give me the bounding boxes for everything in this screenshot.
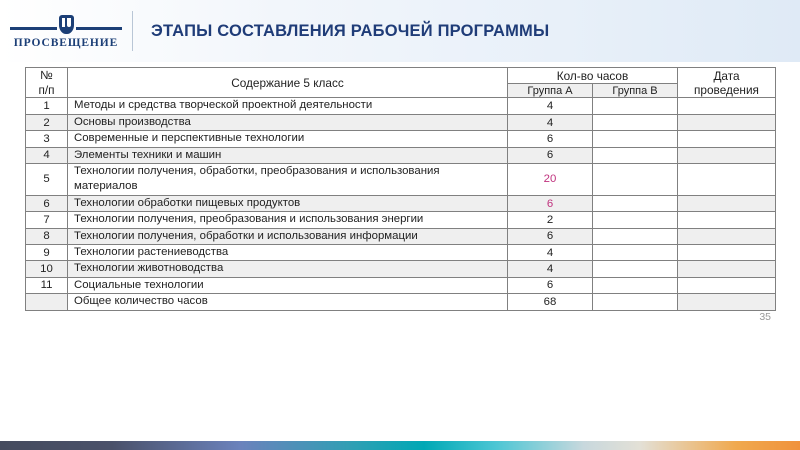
cell-group-b (593, 98, 678, 114)
total-cell-date (678, 294, 776, 310)
cell-group-b (593, 164, 678, 196)
table-head: № п/п Содержание 5 класс Кол-во часов Да… (26, 68, 776, 98)
table-row: 11Социальные технологии6 (26, 277, 776, 293)
cell-content: Методы и средства творческой проектной д… (68, 98, 508, 114)
column-header-number-line2: п/п (38, 83, 54, 97)
cell-date (678, 131, 776, 147)
cell-date (678, 228, 776, 244)
column-header-content: Содержание 5 класс (68, 68, 508, 98)
cell-group-a: 6 (508, 228, 593, 244)
slide-number: 35 (25, 311, 775, 323)
cell-group-b (593, 244, 678, 260)
shield-emblem-icon (59, 15, 74, 34)
table-row: 2Основы производства4 (26, 114, 776, 130)
cell-group-a: 20 (508, 164, 593, 196)
cell-group-a: 6 (508, 147, 593, 163)
column-header-number: № п/п (26, 68, 68, 98)
table-row: 10Технологии животноводства4 (26, 261, 776, 277)
column-header-date-line1: Дата (713, 69, 739, 83)
cell-group-a-value: 6 (547, 198, 553, 210)
logo-emblem-row (10, 13, 122, 35)
cell-content: Технологии получения, преобразования и и… (68, 212, 508, 228)
cell-group-a: 2 (508, 212, 593, 228)
logo-rule-right (76, 27, 123, 30)
table-header-row-1: № п/п Содержание 5 класс Кол-во часов Да… (26, 68, 776, 84)
cell-number: 5 (26, 164, 68, 196)
brand-logo: ПРОСВЕЩЕНИЕ (0, 0, 132, 62)
slide-header: ПРОСВЕЩЕНИЕ ЭТАПЫ СОСТАВЛЕНИЯ РАБОЧЕЙ ПР… (0, 0, 800, 62)
column-header-number-line1: № (40, 68, 53, 82)
cell-content: Технологии животноводства (68, 261, 508, 277)
cell-group-a: 4 (508, 244, 593, 260)
total-cell-group-a: 68 (508, 294, 593, 310)
cell-date (678, 261, 776, 277)
cell-group-b (593, 114, 678, 130)
table-row: 1Методы и средства творческой проектной … (26, 98, 776, 114)
total-cell-number (26, 294, 68, 310)
total-cell-label: Общее количество часов (68, 294, 508, 310)
footer-accent-bar (0, 441, 800, 450)
cell-date (678, 212, 776, 228)
cell-date (678, 195, 776, 211)
cell-content: Основы производства (68, 114, 508, 130)
cell-group-a-value: 20 (544, 173, 557, 185)
schedule-table: № п/п Содержание 5 класс Кол-во часов Да… (25, 67, 776, 311)
cell-date (678, 164, 776, 196)
column-header-group-b: Группа В (593, 84, 678, 98)
cell-group-b (593, 147, 678, 163)
cell-date (678, 277, 776, 293)
cell-number: 1 (26, 98, 68, 114)
cell-number: 3 (26, 131, 68, 147)
column-header-date-line2: проведения (694, 83, 759, 97)
cell-group-a: 4 (508, 98, 593, 114)
table-row: 9Технологии растениеводства4 (26, 244, 776, 260)
cell-group-b (593, 212, 678, 228)
logo-rule-left (10, 27, 57, 30)
cell-number: 10 (26, 261, 68, 277)
logo-wordmark: ПРОСВЕЩЕНИЕ (14, 37, 118, 49)
table-row: 7Технологии получения, преобразования и … (26, 212, 776, 228)
cell-group-b (593, 261, 678, 277)
cell-number: 9 (26, 244, 68, 260)
cell-number: 4 (26, 147, 68, 163)
header-divider (132, 11, 133, 51)
table-row: 5Технологии получения, обработки, преобр… (26, 164, 776, 196)
cell-content: Социальные технологии (68, 277, 508, 293)
cell-date (678, 114, 776, 130)
cell-date (678, 244, 776, 260)
schedule-table-container: № п/п Содержание 5 класс Кол-во часов Да… (25, 67, 775, 323)
cell-group-a: 4 (508, 261, 593, 277)
cell-content: Технологии обработки пищевых продуктов (68, 195, 508, 211)
cell-group-a: 4 (508, 114, 593, 130)
cell-number: 7 (26, 212, 68, 228)
cell-content: Технологии получения, обработки и исполь… (68, 228, 508, 244)
table-body: 1Методы и средства творческой проектной … (26, 98, 776, 310)
table-row: 6Технологии обработки пищевых продуктов6 (26, 195, 776, 211)
cell-date (678, 147, 776, 163)
cell-content: Технологии растениеводства (68, 244, 508, 260)
table-total-row: Общее количество часов68 (26, 294, 776, 310)
total-cell-group-b (593, 294, 678, 310)
cell-group-a: 6 (508, 277, 593, 293)
cell-group-a: 6 (508, 131, 593, 147)
cell-date (678, 98, 776, 114)
cell-group-b (593, 195, 678, 211)
cell-content: Технологии получения, обработки, преобра… (68, 164, 508, 196)
cell-content: Элементы техники и машин (68, 147, 508, 163)
cell-group-b (593, 228, 678, 244)
page-title: ЭТАПЫ СОСТАВЛЕНИЯ РАБОЧЕЙ ПРОГРАММЫ (151, 22, 549, 41)
cell-number: 6 (26, 195, 68, 211)
cell-number: 2 (26, 114, 68, 130)
cell-number: 11 (26, 277, 68, 293)
column-header-group-a: Группа А (508, 84, 593, 98)
column-header-hours: Кол-во часов (508, 68, 678, 84)
cell-group-b (593, 131, 678, 147)
table-row: 4Элементы техники и машин6 (26, 147, 776, 163)
column-header-date: Дата проведения (678, 68, 776, 98)
table-row: 8Технологии получения, обработки и испол… (26, 228, 776, 244)
cell-group-b (593, 277, 678, 293)
cell-group-a: 6 (508, 195, 593, 211)
cell-content: Современные и перспективные технологии (68, 131, 508, 147)
cell-number: 8 (26, 228, 68, 244)
table-row: 3Современные и перспективные технологии6 (26, 131, 776, 147)
